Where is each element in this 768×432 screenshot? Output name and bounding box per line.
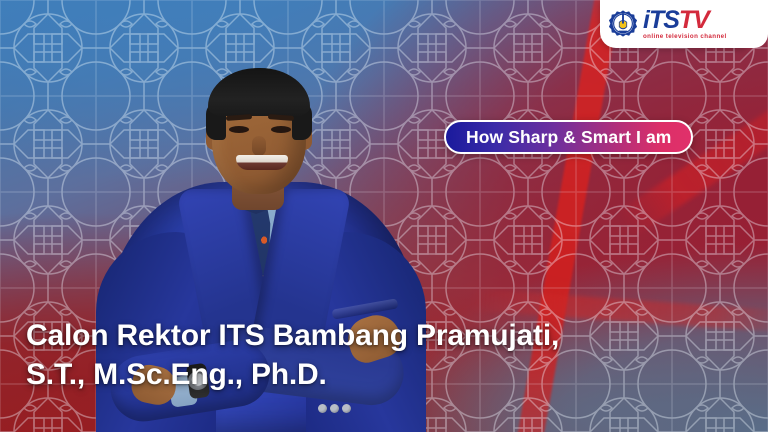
- subject-sleeve-buttons: [318, 400, 364, 412]
- its-tv-tagline: online television channel: [643, 34, 727, 40]
- subject-hair: [208, 68, 310, 116]
- its-gear-logo-icon: [608, 9, 638, 39]
- its-wordmark-its: iTS: [643, 8, 679, 33]
- its-tv-wordmark: iTS TV online television channel: [643, 8, 727, 40]
- tagline-badge: How Sharp & Smart I am: [444, 120, 693, 154]
- subject-mouth: [236, 155, 288, 170]
- tagline-badge-label: How Sharp & Smart I am: [466, 127, 671, 148]
- headline-line-2: S.T., M.Sc.Eng., Ph.D.: [26, 356, 742, 394]
- video-thumbnail: iTS TV online television channel How Sha…: [0, 0, 768, 432]
- its-wordmark-tv: TV: [679, 8, 709, 33]
- headline-line-1: Calon Rektor ITS Bambang Pramujati,: [26, 319, 559, 352]
- subject-eye-left: [229, 126, 249, 133]
- subject-eye-right: [271, 126, 291, 133]
- its-tv-logo-panel[interactable]: iTS TV online television channel: [600, 0, 746, 48]
- subject-nose: [252, 136, 266, 156]
- headline: Calon Rektor ITS Bambang Pramujati, S.T.…: [26, 317, 742, 394]
